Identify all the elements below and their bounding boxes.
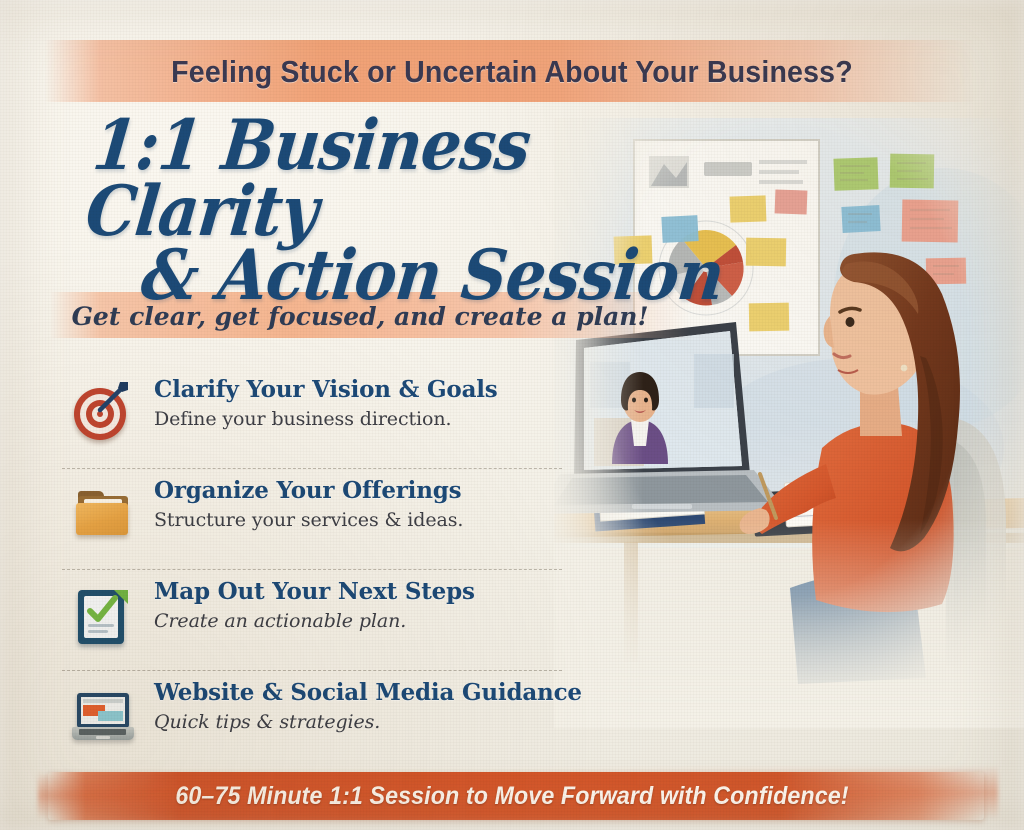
feature-description: Define your business direction. (154, 408, 554, 430)
feature-list: Clarify Your Vision & Goals Define your … (62, 368, 562, 771)
feature-text: Organize Your Offerings Structure your s… (154, 477, 554, 531)
feature-title: Website & Social Media Guidance (154, 679, 554, 706)
feature-description: Create an actionable plan. (154, 610, 554, 632)
page-title-line-1: 1:1 Business Clarity (83, 112, 737, 245)
target-icon (72, 382, 134, 444)
list-item[interactable]: Clarify Your Vision & Goals Define your … (62, 368, 562, 468)
folder-icon (72, 483, 134, 545)
promotional-flyer: Feeling Stuck or Uncertain About Your Bu… (0, 0, 1024, 830)
feature-description: Structure your services & ideas. (154, 509, 554, 531)
feature-text: Website & Social Media Guidance Quick ti… (154, 679, 554, 733)
laptop-icon (72, 685, 134, 747)
feature-title: Map Out Your Next Steps (154, 578, 554, 605)
list-item[interactable]: Map Out Your Next Steps Create an action… (62, 569, 562, 670)
feature-title: Clarify Your Vision & Goals (154, 376, 554, 403)
clipboard-check-icon (72, 584, 134, 646)
list-item[interactable]: Website & Social Media Guidance Quick ti… (62, 670, 562, 771)
dart-arrow-icon (96, 380, 130, 414)
feature-text: Clarify Your Vision & Goals Define your … (154, 376, 554, 430)
feature-text: Map Out Your Next Steps Create an action… (154, 578, 554, 632)
list-item[interactable]: Organize Your Offerings Structure your s… (62, 468, 562, 569)
feature-description: Quick tips & strategies. (154, 711, 554, 733)
feature-title: Organize Your Offerings (154, 477, 554, 504)
header-question: Feeling Stuck or Uncertain About Your Bu… (41, 44, 983, 100)
footer-cta: 60–75 Minute 1:1 Session to Move Forward… (36, 776, 988, 816)
page-title: 1:1 Business Clarity & Action Session (90, 118, 730, 305)
page-title-line-2: & Action Session (139, 242, 734, 309)
